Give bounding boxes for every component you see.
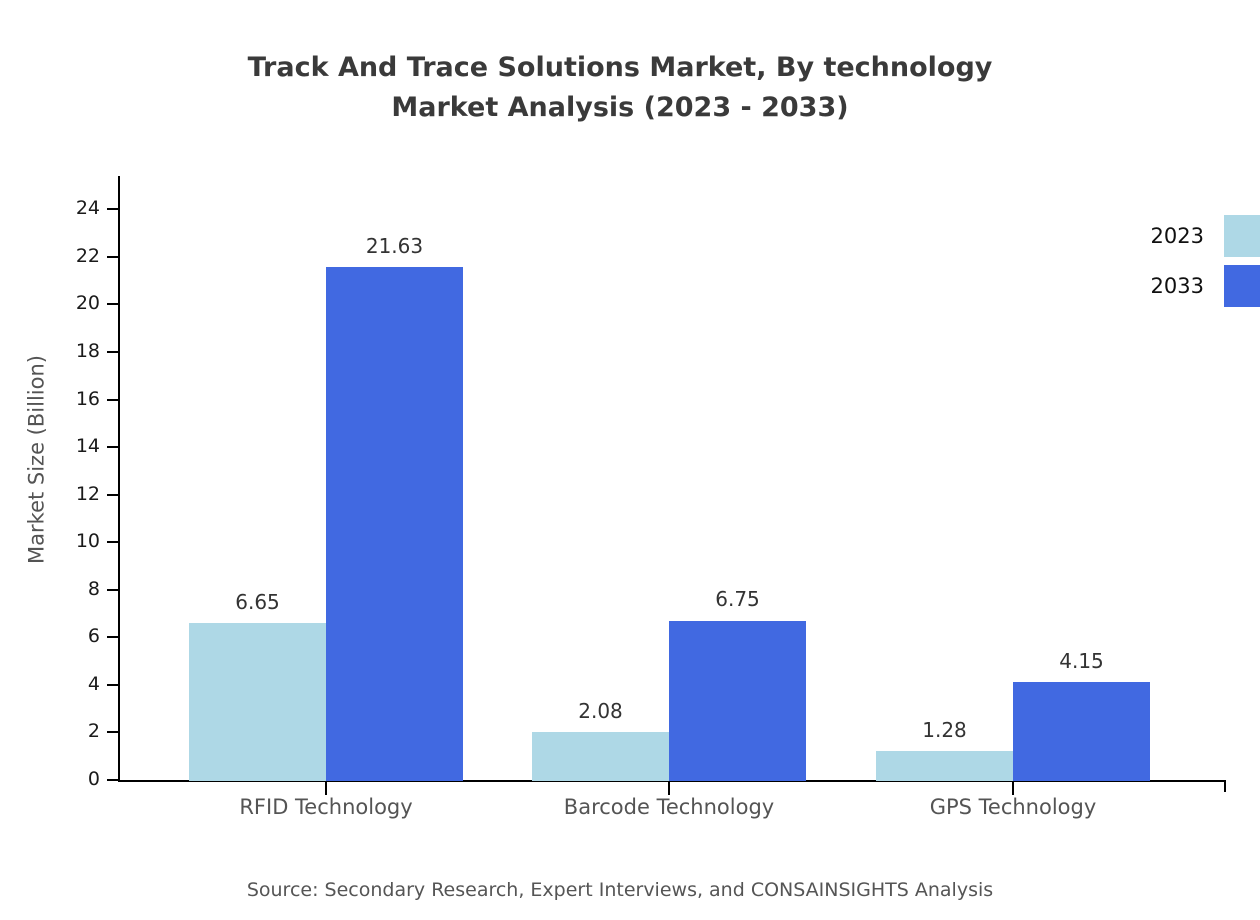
bar-value-label: 21.63 [326,236,463,256]
bar-2033-barcode-technology[interactable] [669,621,806,782]
y-tick-mark [107,256,119,258]
y-tick-label: 22 [40,247,100,266]
plot-area: 6.6521.632.086.751.284.15 [119,176,1225,781]
bar-value-label: 4.15 [1013,651,1150,671]
y-tick-mark [107,636,119,638]
y-tick-mark [107,446,119,448]
y-tick-label: 20 [40,294,100,313]
source-note: Source: Secondary Research, Expert Inter… [0,878,1240,902]
bar-2023-barcode-technology[interactable] [532,732,669,781]
chart-title: Track And Trace Solutions Market, By tec… [0,48,1240,128]
bar-value-label: 6.65 [189,592,326,612]
x-axis-end-tick [1224,780,1226,792]
y-tick-label: 18 [40,342,100,361]
bar-value-label: 1.28 [876,720,1013,740]
y-tick-mark [107,731,119,733]
legend-swatch-2023 [1224,215,1260,257]
bar-value-label: 6.75 [669,589,806,609]
legend-item-2023[interactable]: 2023 [1125,214,1260,264]
legend-label-2033: 2033 [1151,276,1204,297]
legend-item-2033[interactable]: 2033 [1125,264,1260,314]
chart-legend: 2023 2033 [1125,214,1260,314]
y-tick-mark [107,684,119,686]
y-tick-label: 0 [40,770,100,789]
y-tick-mark [107,208,119,210]
y-tick-label: 12 [40,485,100,504]
bar-2033-rfid-technology[interactable] [326,267,463,781]
y-tick-mark [107,589,119,591]
y-tick-label: 16 [40,390,100,409]
y-tick-mark [107,779,119,781]
y-tick-label: 2 [40,722,100,741]
bar-2023-gps-technology[interactable] [876,751,1013,781]
y-tick-label: 8 [40,580,100,599]
y-tick-label: 4 [40,675,100,694]
y-tick-label: 24 [40,199,100,218]
y-tick-mark [107,494,119,496]
chart-title-line-2: Market Analysis (2023 - 2033) [0,88,1240,128]
y-tick-mark [107,303,119,305]
bar-value-label: 2.08 [532,701,669,721]
chart-title-line-1: Track And Trace Solutions Market, By tec… [0,48,1240,88]
y-tick-mark [107,399,119,401]
y-tick-label: 6 [40,627,100,646]
y-tick-label: 10 [40,532,100,551]
x-axis-label-barcode-technology: Barcode Technology [469,794,869,820]
y-tick-label: 14 [40,437,100,456]
y-tick-mark [107,541,119,543]
y-tick-mark [107,351,119,353]
bar-2023-rfid-technology[interactable] [189,623,326,781]
legend-label-2023: 2023 [1151,226,1204,247]
legend-swatch-2033 [1224,265,1260,307]
x-axis-label-rfid-technology: RFID Technology [126,794,526,820]
x-axis-label-gps-technology: GPS Technology [813,794,1213,820]
bar-chart: Track And Trace Solutions Market, By tec… [0,0,1260,920]
bar-2033-gps-technology[interactable] [1013,682,1150,781]
